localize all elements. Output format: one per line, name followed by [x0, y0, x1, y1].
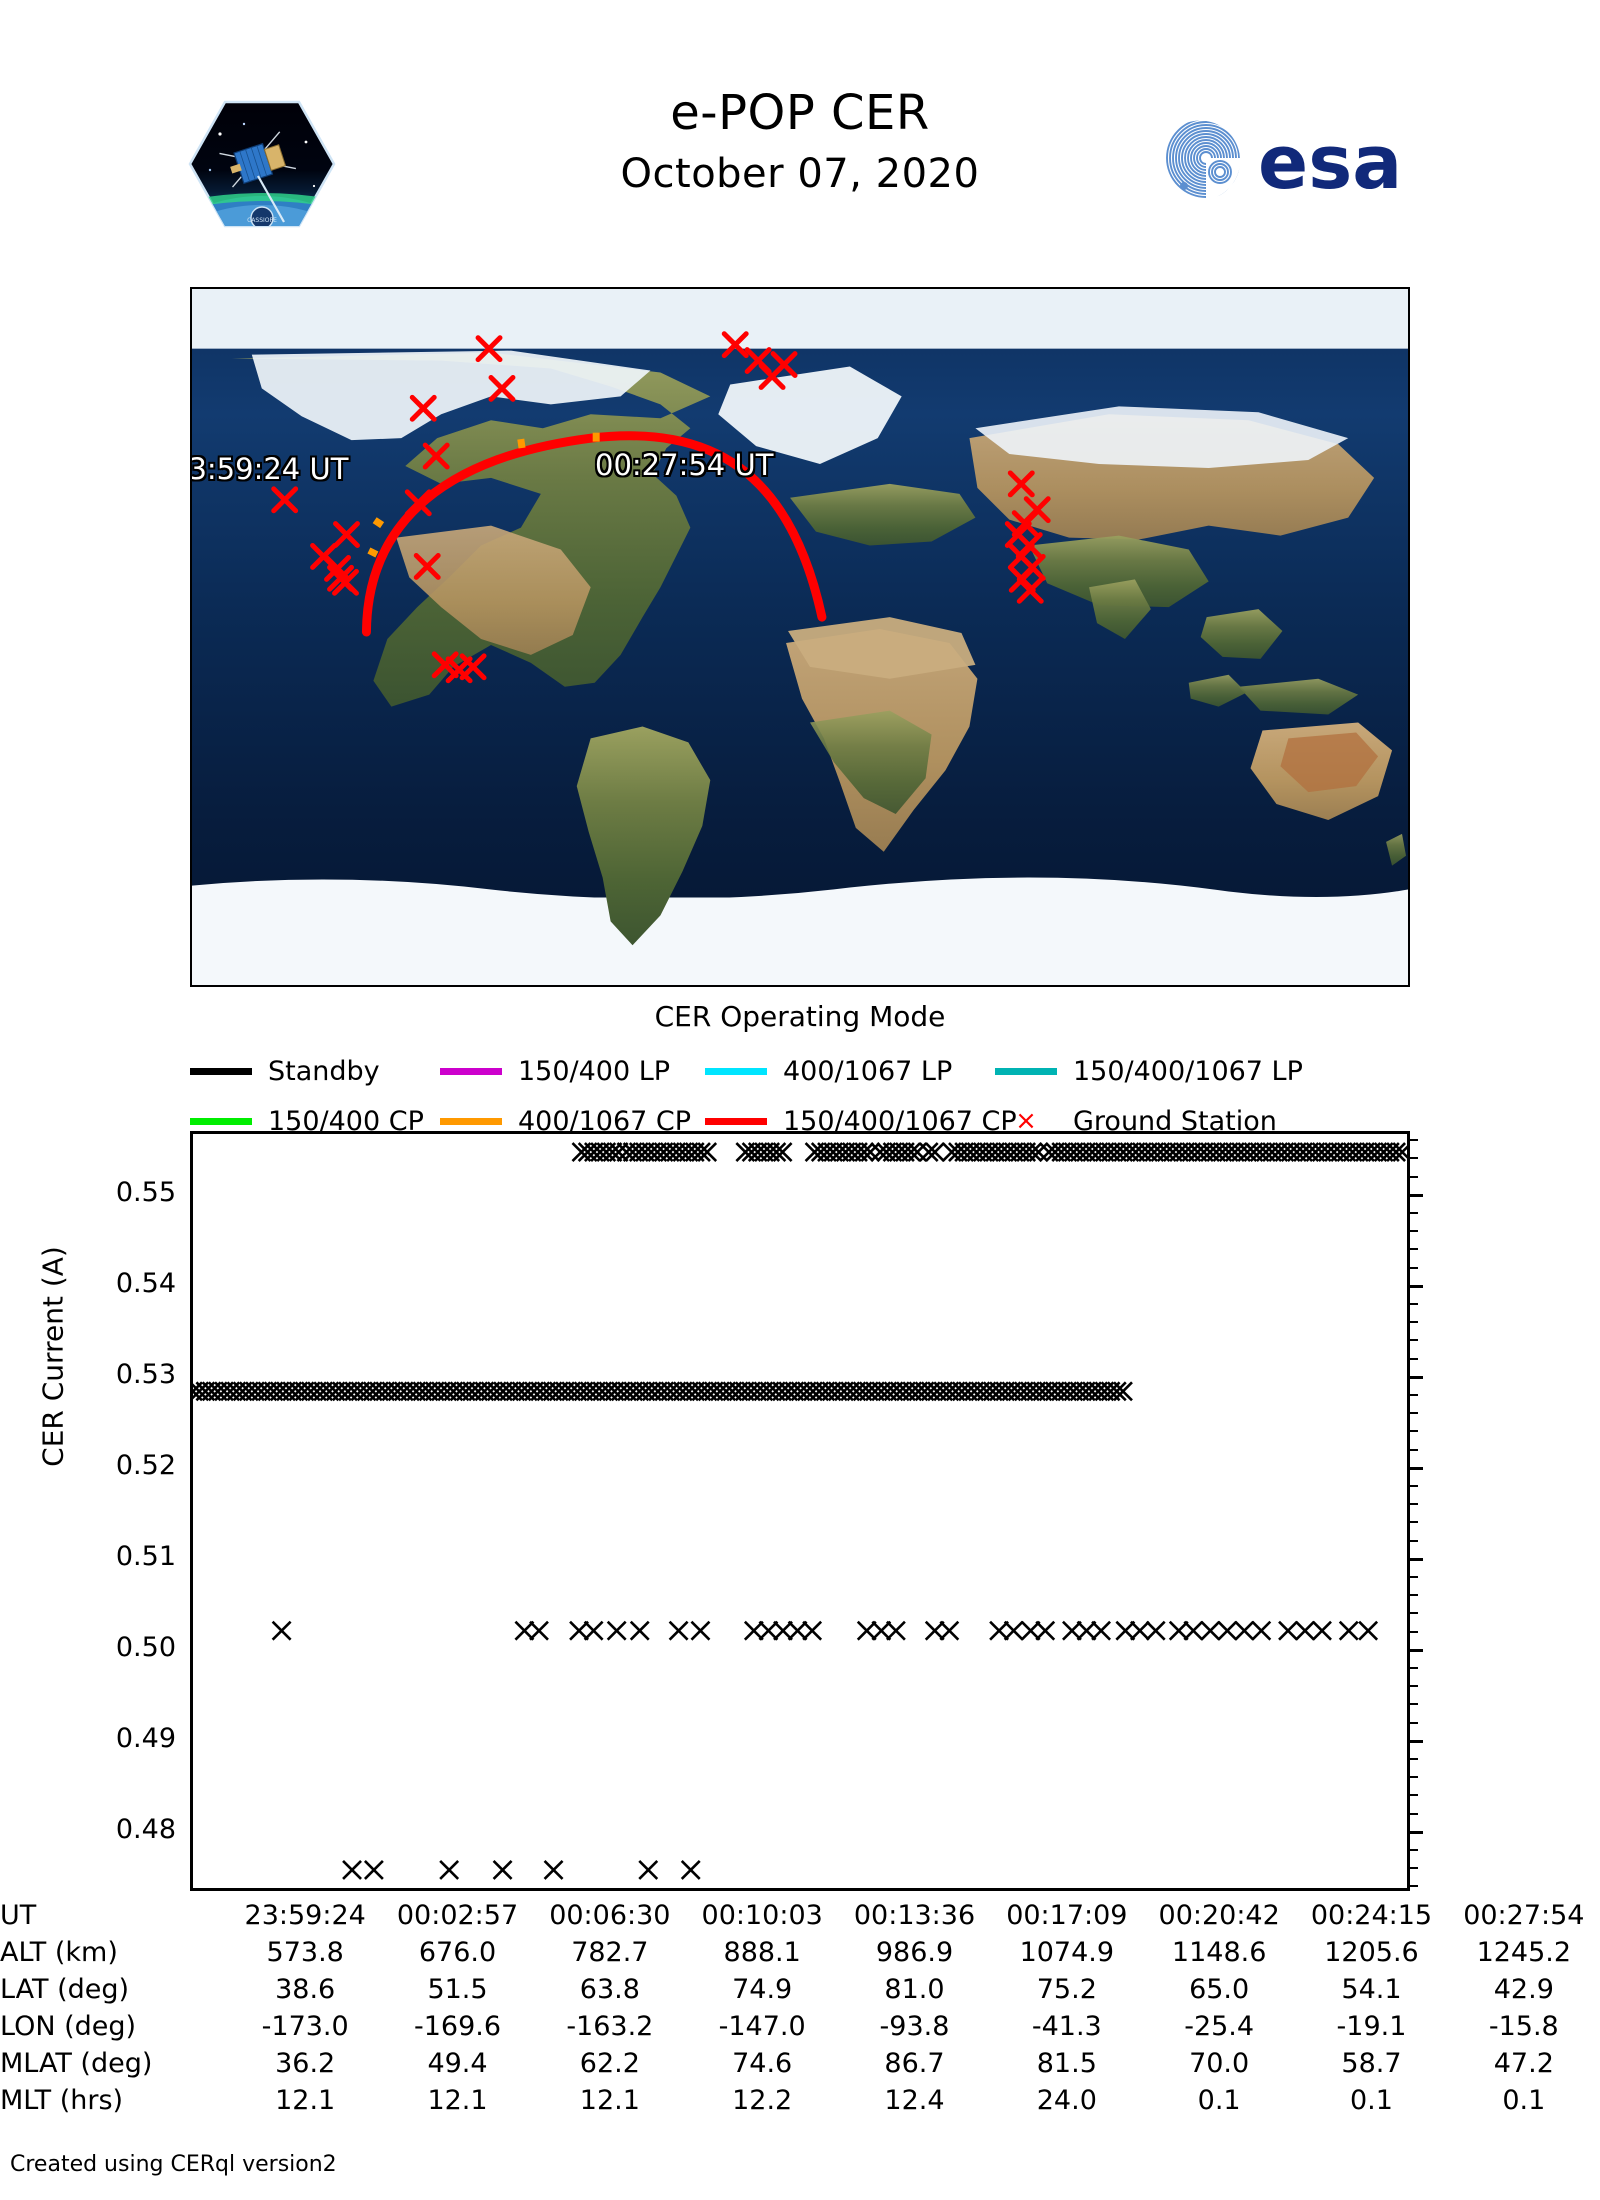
y-tick-minor	[1410, 1230, 1418, 1232]
y-tick-label: 0.50	[0, 1632, 176, 1663]
table-cell: 12.2	[686, 2082, 838, 2119]
y-tick-minor	[1410, 1157, 1418, 1159]
table-cell: -169.6	[381, 2008, 533, 2045]
table-cell: 42.9	[1448, 1971, 1600, 2008]
table-cell: 51.5	[381, 1971, 533, 2008]
y-tick-minor	[1410, 1412, 1418, 1414]
y-tick-minor	[1410, 1612, 1418, 1614]
table-cell: -173.0	[229, 2008, 381, 2045]
y-tick-minor	[1410, 1303, 1418, 1305]
map-start-time-label: 23:59:24 UT	[190, 452, 348, 486]
ground-station-markers	[274, 334, 1048, 681]
table-cell: 62.2	[534, 2045, 686, 2082]
y-tick-mark	[1410, 1285, 1423, 1288]
world-map-panel[interactable]: 23:59:24 UT 00:27:54 UT	[190, 287, 1410, 987]
table-cell: 0.1	[1448, 2082, 1600, 2119]
table-cell: 24.0	[991, 2082, 1143, 2119]
table-cell: -15.8	[1448, 2008, 1600, 2045]
table-row-label: LAT (deg)	[0, 1971, 229, 2008]
table-row: LAT (deg)38.651.563.874.981.075.265.054.…	[0, 1971, 1600, 2008]
y-tick-label: 0.55	[0, 1177, 176, 1208]
table-cell: -93.8	[838, 2008, 990, 2045]
y-tick-minor	[1410, 1794, 1418, 1796]
table-cell: -19.1	[1295, 2008, 1447, 2045]
ephemeris-table-wrap: UT23:59:2400:02:5700:06:3000:10:0300:13:…	[0, 1897, 1600, 2119]
y-tick-minor	[1410, 1321, 1418, 1323]
legend-item-150-400-lp[interactable]: 150/400 LP	[440, 1056, 705, 1087]
table-row-label: ALT (km)	[0, 1934, 229, 1971]
y-tick-minor	[1410, 1867, 1418, 1869]
legend-swatch-400-1067-cp	[440, 1118, 502, 1125]
table-cell: -41.3	[991, 2008, 1143, 2045]
table-cell: 38.6	[229, 1971, 381, 2008]
cassiope-mission-logo: CASSIOPE	[188, 98, 336, 230]
table-row-label: LON (deg)	[0, 2008, 229, 2045]
table-row: LON (deg)-173.0-169.6-163.2-147.0-93.8-4…	[0, 2008, 1600, 2045]
table-cell: -147.0	[686, 2008, 838, 2045]
y-tick-minor	[1410, 1667, 1418, 1669]
y-tick-minor	[1410, 1212, 1418, 1214]
legend-title: CER Operating Mode	[0, 1000, 1600, 1033]
table-cell: 888.1	[686, 1934, 838, 1971]
cer-current-scatter-plot[interactable]	[190, 1131, 1410, 1891]
y-tick-mark	[1410, 1558, 1423, 1561]
y-tick-minor	[1410, 1248, 1418, 1250]
legend-label-150-400-1067-lp: 150/400/1067 LP	[1073, 1056, 1303, 1087]
legend-swatch-standby	[190, 1068, 252, 1075]
table-cell: -163.2	[534, 2008, 686, 2045]
legend-label-standby: Standby	[268, 1056, 380, 1087]
svg-text:CASSIOPE: CASSIOPE	[247, 217, 277, 224]
y-tick-minor	[1410, 1813, 1418, 1815]
y-tick-minor	[1410, 1358, 1418, 1360]
table-cell: 81.0	[838, 1971, 990, 2008]
ephemeris-table: UT23:59:2400:02:5700:06:3000:10:0300:13:…	[0, 1897, 1600, 2119]
y-tick-minor	[1410, 1176, 1418, 1178]
legend-swatch-400-1067-lp	[705, 1068, 767, 1075]
table-cell: 1074.9	[991, 1934, 1143, 1971]
table-cell: 00:24:15	[1295, 1897, 1447, 1934]
page-title: e-POP CER	[400, 82, 1200, 144]
y-tick-label: 0.48	[0, 1814, 176, 1845]
footer-credit: Created using CERql version2	[10, 2152, 337, 2177]
y-tick-minor	[1410, 1685, 1418, 1687]
y-tick-minor	[1410, 1449, 1418, 1451]
y-tick-minor	[1410, 1758, 1418, 1760]
y-tick-minor	[1410, 1631, 1418, 1633]
y-tick-minor	[1410, 1776, 1418, 1778]
table-cell: 23:59:24	[229, 1897, 381, 1934]
y-tick-minor	[1410, 1594, 1418, 1596]
y-tick-mark	[1410, 1467, 1423, 1470]
table-cell: 75.2	[991, 1971, 1143, 2008]
table-cell: 58.7	[1295, 2045, 1447, 2082]
y-tick-mark	[1410, 1740, 1423, 1743]
table-row: MLAT (deg)36.249.462.274.686.781.570.058…	[0, 2045, 1600, 2082]
table-cell: 74.9	[686, 1971, 838, 2008]
table-cell: 986.9	[838, 1934, 990, 1971]
table-cell: 65.0	[1143, 1971, 1295, 2008]
table-cell: 12.1	[381, 2082, 533, 2119]
table-cell: 63.8	[534, 1971, 686, 2008]
ground-station-layer	[192, 289, 1408, 985]
y-tick-minor	[1410, 1576, 1418, 1578]
table-cell: 0.1	[1143, 2082, 1295, 2119]
table-cell: 74.6	[686, 2045, 838, 2082]
table-row: ALT (km)573.8676.0782.7888.1986.91074.91…	[0, 1934, 1600, 1971]
y-tick-label: 0.54	[0, 1268, 176, 1299]
table-cell: 00:13:36	[838, 1897, 990, 1934]
y-tick-mark	[1410, 1831, 1423, 1834]
table-cell: 00:20:42	[1143, 1897, 1295, 1934]
map-end-time-label: 00:27:54 UT	[595, 448, 773, 482]
table-cell: 81.5	[991, 2045, 1143, 2082]
y-tick-minor	[1410, 1885, 1418, 1887]
y-tick-mark	[1410, 1376, 1423, 1379]
y-tick-minor	[1410, 1394, 1418, 1396]
table-cell: 12.4	[838, 2082, 990, 2119]
y-tick-label: 0.51	[0, 1541, 176, 1572]
y-tick-minor	[1410, 1503, 1418, 1505]
title-block: e-POP CER October 07, 2020	[400, 82, 1200, 204]
table-cell: 86.7	[838, 2045, 990, 2082]
table-cell: 1245.2	[1448, 1934, 1600, 1971]
legend-swatch-150-400-1067-cp	[705, 1118, 767, 1125]
y-tick-mark	[1410, 1649, 1423, 1652]
table-row-label: MLAT (deg)	[0, 2045, 229, 2082]
table-row-label: UT	[0, 1897, 229, 1934]
legend-item-150-400-1067-lp[interactable]: 150/400/1067 LP	[995, 1056, 1303, 1087]
table-cell: 00:27:54	[1448, 1897, 1600, 1934]
table-cell: 12.1	[534, 2082, 686, 2119]
table-cell: 00:17:09	[991, 1897, 1143, 1934]
table-cell: 0.1	[1295, 2082, 1447, 2119]
page-header: CASSIOPE e-POP CER October 07, 2020	[0, 0, 1600, 200]
table-cell: 782.7	[534, 1934, 686, 1971]
y-tick-label: 0.53	[0, 1359, 176, 1390]
table-cell: 70.0	[1143, 2045, 1295, 2082]
table-cell: 12.1	[229, 2082, 381, 2119]
y-tick-mark	[1410, 1194, 1423, 1197]
y-tick-minor	[1410, 1485, 1418, 1487]
y-tick-minor	[1410, 1430, 1418, 1432]
y-tick-label: 0.52	[0, 1450, 176, 1481]
table-cell: 676.0	[381, 1934, 533, 1971]
esa-wordmark: esa	[1258, 120, 1402, 204]
table-row-label: MLT (hrs)	[0, 2082, 229, 2119]
legend-label-400-1067-lp: 400/1067 LP	[783, 1056, 952, 1087]
y-tick-minor	[1410, 1849, 1418, 1851]
table-cell: -25.4	[1143, 2008, 1295, 2045]
table-cell: 00:06:30	[534, 1897, 686, 1934]
table-cell: 573.8	[229, 1934, 381, 1971]
y-tick-minor	[1410, 1540, 1418, 1542]
legend-item-400-1067-lp[interactable]: 400/1067 LP	[705, 1056, 995, 1087]
legend-row-1: Standby 150/400 LP 400/1067 LP 150/400/1…	[190, 1046, 1450, 1096]
legend-swatch-150-400-lp	[440, 1068, 502, 1075]
legend-label-150-400-lp: 150/400 LP	[518, 1056, 670, 1087]
scatter-markers	[193, 1134, 1407, 1888]
y-tick-minor	[1410, 1722, 1418, 1724]
table-cell: 1205.6	[1295, 1934, 1447, 1971]
y-tick-minor	[1410, 1139, 1418, 1141]
y-tick-minor	[1410, 1521, 1418, 1523]
table-cell: 36.2	[229, 2045, 381, 2082]
y-tick-label: 0.49	[0, 1723, 176, 1754]
table-row: MLT (hrs)12.112.112.112.212.424.00.10.10…	[0, 2082, 1600, 2119]
esa-logo: esa	[1162, 112, 1462, 204]
table-cell: 1148.6	[1143, 1934, 1295, 1971]
page-date: October 07, 2020	[400, 144, 1200, 204]
legend-swatch-150-400-cp	[190, 1118, 252, 1125]
table-cell: 49.4	[381, 2045, 533, 2082]
table-row: UT23:59:2400:02:5700:06:3000:10:0300:13:…	[0, 1897, 1600, 1934]
y-tick-minor	[1410, 1267, 1418, 1269]
table-cell: 47.2	[1448, 2045, 1600, 2082]
table-cell: 00:02:57	[381, 1897, 533, 1934]
legend-item-standby[interactable]: Standby	[190, 1056, 440, 1087]
y-tick-minor	[1410, 1339, 1418, 1341]
legend-swatch-150-400-1067-lp	[995, 1068, 1057, 1075]
table-cell: 00:10:03	[686, 1897, 838, 1934]
y-tick-minor	[1410, 1703, 1418, 1705]
table-cell: 54.1	[1295, 1971, 1447, 2008]
